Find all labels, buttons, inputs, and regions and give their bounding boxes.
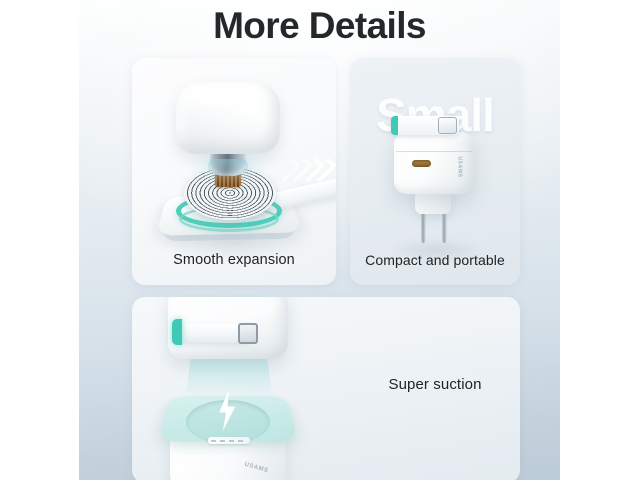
dome-highlight	[188, 88, 246, 110]
letterbox-right	[560, 0, 640, 480]
usb-c-port-icon	[412, 160, 431, 167]
connector-tip	[238, 323, 258, 344]
card-compact-portable[interactable]: Small USAMS Compact and portable	[350, 58, 520, 285]
card-caption-compact-portable: Compact and portable	[350, 251, 520, 269]
led-indicator-strip	[208, 437, 250, 444]
plug-prong	[442, 213, 447, 243]
plug-prong	[421, 213, 426, 243]
card-super-suction[interactable]: USAMS Super suction	[132, 297, 520, 480]
glass-collar	[208, 159, 248, 175]
card-caption-super-suction: Super suction	[350, 376, 520, 394]
teal-accent	[172, 319, 182, 345]
letterbox-left	[0, 0, 79, 480]
connector-tip	[438, 117, 457, 134]
suction-light-beam	[186, 355, 272, 393]
brand-label: USAMS	[244, 462, 269, 475]
card-caption-smooth-expansion: Smooth expansion	[132, 251, 336, 269]
motion-chevrons-icon	[280, 154, 336, 184]
poster-frame: More Details	[0, 0, 640, 480]
teal-accent	[391, 116, 398, 135]
charger-seam-line	[396, 151, 472, 152]
poster-stage: More Details	[79, 0, 560, 480]
page-title: More Details	[79, 2, 560, 50]
brand-label: USAMS	[457, 156, 463, 177]
plug-neck	[415, 193, 451, 214]
card-smooth-expansion[interactable]: Smooth expansion	[132, 58, 336, 285]
